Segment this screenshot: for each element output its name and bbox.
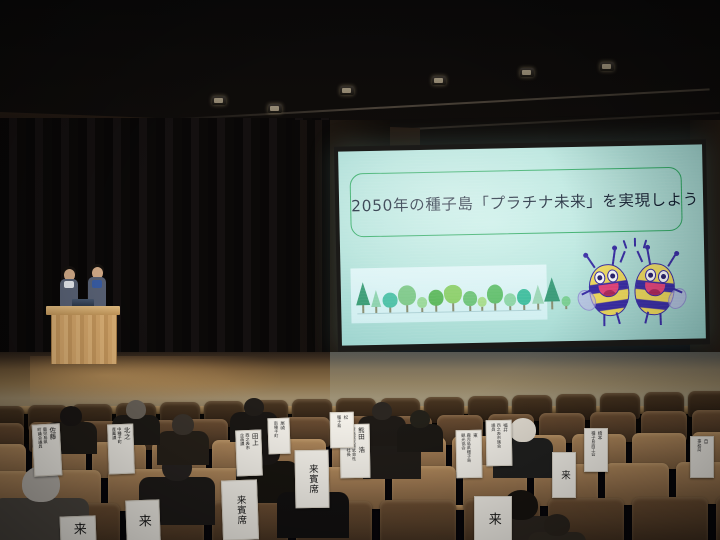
podium-top xyxy=(46,306,120,315)
stage-light xyxy=(212,96,226,105)
placard-text-line: 北之 xyxy=(122,427,129,440)
guest-placard-text: 来 xyxy=(559,470,569,480)
tree xyxy=(544,278,561,309)
tree-crown xyxy=(398,285,416,305)
tree-crown xyxy=(531,285,543,304)
placard-text-line: 鹿児島県 xyxy=(42,427,47,444)
tree-crown xyxy=(477,297,486,307)
tree xyxy=(462,291,476,311)
tree-trunk xyxy=(452,302,454,311)
tree xyxy=(428,290,443,312)
tree-crown xyxy=(462,291,476,306)
placard-text-line: 種子島 xyxy=(337,415,342,428)
slide-title: 2050年の種子島「プラチナ未来」を実現しよう xyxy=(351,188,681,217)
seat-name-placard: 田上西之表市企画課 xyxy=(235,430,263,477)
tree-crown xyxy=(544,277,560,301)
placard-text-line: 鹿児島県種子島 xyxy=(466,433,471,462)
mascot-arm xyxy=(619,251,625,263)
mascot-bee-left xyxy=(580,249,636,327)
guest-seat-placard: 来 xyxy=(125,499,160,540)
seat-name-placard: 松種子島 xyxy=(330,412,355,448)
audience-person-body xyxy=(397,424,443,452)
guest-placard-text: 来 xyxy=(486,512,500,526)
tree-row xyxy=(350,265,546,269)
audience-seat xyxy=(632,497,708,540)
placard-text-line: 佐藤 xyxy=(48,427,55,440)
placard-text-line: 南種子町 xyxy=(273,421,278,438)
placard-text-line: 松 xyxy=(342,415,347,420)
placard-text-line: 自 xyxy=(702,439,707,444)
seat-name-placard: 北之中種子町産業課 xyxy=(107,424,135,475)
seat-name-placard: 佐藤鹿児島県町議会議員 xyxy=(32,423,63,476)
guest-placard-text: 来賓席 xyxy=(235,495,246,525)
tree-trunk xyxy=(362,304,364,313)
tree-crown xyxy=(517,289,531,305)
placard-text-line: 観光協会 xyxy=(461,433,466,450)
tree xyxy=(371,291,382,313)
audience-person-head xyxy=(244,398,264,416)
antenna-icon xyxy=(668,254,677,267)
tree-crown xyxy=(428,290,443,306)
audience-seat xyxy=(716,496,720,540)
tree-crown xyxy=(444,281,462,303)
tree xyxy=(417,297,427,312)
antenna-icon xyxy=(586,256,595,268)
podium-body xyxy=(51,315,117,364)
placard-text-line: 田上 xyxy=(250,433,257,446)
audience-person-head xyxy=(410,410,430,428)
projection-screen-frame: 2050年の種子島「プラチナ未来」を実現しよう xyxy=(334,139,710,351)
seat-name-placard: 自事務局 xyxy=(690,436,714,478)
mascot-bee-right xyxy=(629,249,682,325)
mascot-arm xyxy=(637,251,644,263)
mascot-leg xyxy=(660,313,662,325)
projection-screen: 2050年の種子島「プラチナ未来」を実現しよう xyxy=(338,144,706,345)
audience-seat xyxy=(380,500,456,540)
guest-seat-placard: 来 xyxy=(474,496,512,540)
tree xyxy=(517,289,531,310)
mascot-leg xyxy=(603,314,605,326)
tree xyxy=(487,284,504,310)
guest-placard-text: 来 xyxy=(136,514,150,528)
auditorium-photo-scene: 2050年の種子島「プラチナ未来」を実現しよう xyxy=(0,0,720,540)
placard-text-line: 尾崎 xyxy=(279,421,284,430)
audience-person-head xyxy=(172,414,194,435)
placard-text-line: 企画課 xyxy=(240,433,245,446)
audience-person-head xyxy=(544,514,570,536)
guest-seat-placard: 来賓席 xyxy=(221,479,259,540)
tree xyxy=(355,283,371,313)
audience-person-head xyxy=(372,402,392,420)
antenna-icon xyxy=(647,249,651,265)
placard-text-line: 産業課 xyxy=(112,427,117,440)
seat-name-placard: 橋本種子島商工会 xyxy=(584,428,608,472)
tree xyxy=(398,285,417,312)
podium xyxy=(46,306,120,364)
tree-crown xyxy=(383,293,398,308)
guest-placard-text: 来賓席 xyxy=(307,464,317,494)
slide-title-box: 2050年の種子島「プラチナ未来」を実現しよう xyxy=(350,167,683,238)
stage-light xyxy=(340,86,354,95)
sparkle-icon xyxy=(623,240,628,249)
stage-light xyxy=(432,76,446,85)
audience-person-body xyxy=(157,431,209,465)
tree xyxy=(531,286,543,310)
tree-crown xyxy=(504,293,516,306)
antenna-icon xyxy=(612,249,616,265)
placard-text-line: 種子島商工会 xyxy=(591,431,595,456)
tree-crown xyxy=(417,297,427,308)
guest-seat-placard: 来賓席 xyxy=(294,450,329,509)
tree-crown xyxy=(487,284,503,303)
placard-text-line: 事務局 xyxy=(697,439,701,452)
guest-seat-placard: 来 xyxy=(60,515,97,540)
guest-seat-placard: 来 xyxy=(552,452,576,498)
placard-text-line: 東 xyxy=(472,433,477,438)
seat-name-placard: 福井西之表市議会議員 xyxy=(486,420,513,466)
stage-light xyxy=(600,62,614,71)
sparkle-icon xyxy=(634,238,636,247)
placard-text-line: 中種子町 xyxy=(117,427,122,444)
mascot-leg xyxy=(616,312,621,324)
stage-light xyxy=(520,68,534,77)
stage-light xyxy=(268,104,282,113)
placard-text-line: 西之表市議会 xyxy=(496,423,501,448)
seat-name-placard: 尾崎南種子町 xyxy=(267,418,290,455)
audience-person-head xyxy=(510,418,536,442)
tree xyxy=(477,297,486,311)
audience-person-head xyxy=(60,406,82,426)
tree xyxy=(504,293,516,310)
slide-tree-illustration xyxy=(350,265,547,324)
placard-text-line: 福井 xyxy=(502,423,507,432)
tree-trunk xyxy=(551,300,553,309)
tree-crown xyxy=(371,290,381,307)
tree-crown xyxy=(355,282,369,305)
tree xyxy=(443,280,462,311)
slide-mascot-pair xyxy=(562,237,694,336)
placard-text-line: 熊田 浩 xyxy=(357,427,364,453)
seat-name-placard: 東鹿児島県種子島観光協会 xyxy=(456,430,483,478)
placard-text-line: 橋本 xyxy=(596,431,601,440)
placard-text-line: 西之表市 xyxy=(245,433,250,450)
tree xyxy=(383,293,398,313)
placard-text-line: 議員 xyxy=(491,423,496,431)
guest-placard-text: 来 xyxy=(71,522,85,536)
audience-person-head xyxy=(126,400,146,419)
